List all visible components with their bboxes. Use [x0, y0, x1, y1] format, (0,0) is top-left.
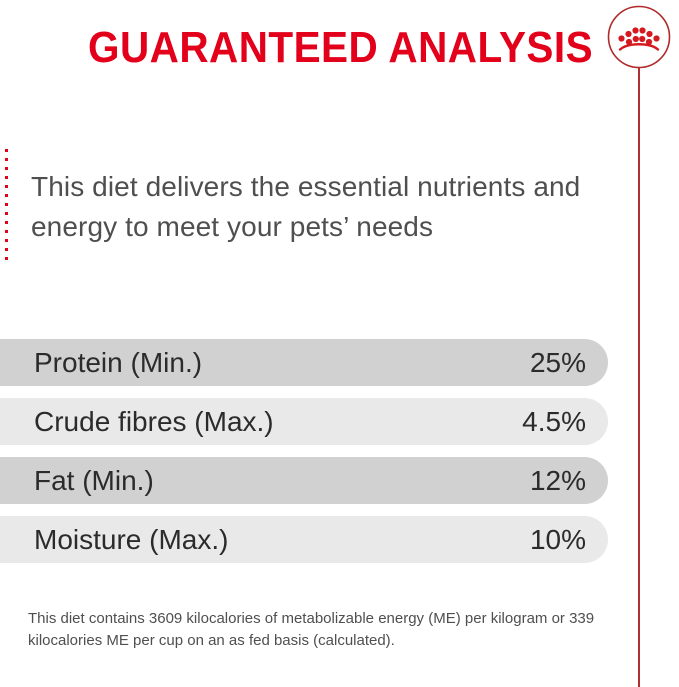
nutrient-label: Moisture (Max.) [34, 525, 530, 555]
intro-paragraph: This diet delivers the essential nutrien… [31, 167, 611, 247]
nutrient-value: 12% [530, 466, 586, 496]
table-row: Protein (Min.) 25% [0, 339, 608, 386]
royal-canin-crown-icon [607, 5, 671, 69]
table-row: Crude fibres (Max.) 4.5% [0, 398, 608, 445]
nutrient-table: Protein (Min.) 25% Crude fibres (Max.) 4… [0, 339, 608, 575]
badge-stem-line [638, 67, 640, 687]
nutrient-value: 25% [530, 348, 586, 378]
nutrient-label: Crude fibres (Max.) [34, 407, 522, 437]
nutrient-label: Fat (Min.) [34, 466, 530, 496]
table-row: Moisture (Max.) 10% [0, 516, 608, 563]
page-title: GUARANTEED ANALYSIS [88, 22, 593, 74]
vertical-dotted-rule [5, 149, 8, 260]
nutrient-value: 4.5% [522, 407, 586, 437]
nutrient-label: Protein (Min.) [34, 348, 530, 378]
nutrient-value: 10% [530, 525, 586, 555]
table-row: Fat (Min.) 12% [0, 457, 608, 504]
footnote-text: This diet contains 3609 kilocalories of … [28, 608, 608, 652]
